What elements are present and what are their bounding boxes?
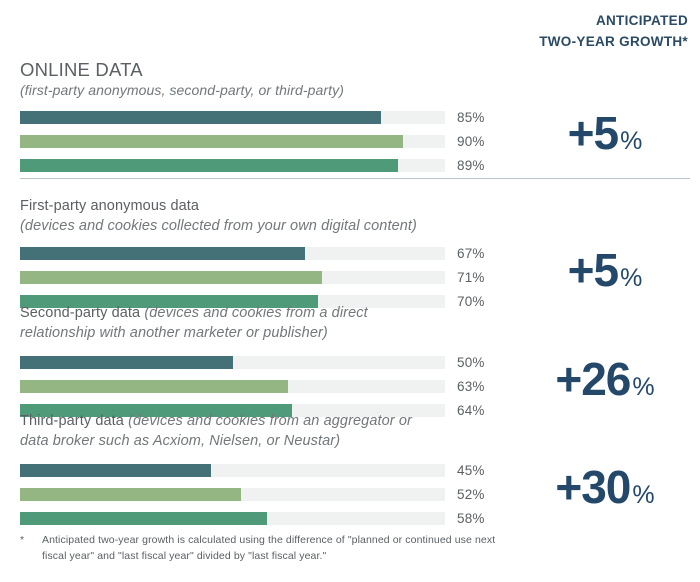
growth-number: +5 <box>568 110 618 156</box>
growth-figure: +5 % <box>568 110 643 156</box>
growth-percent-sign: % <box>620 266 642 291</box>
section-label-italic: (devices and cookies collected from your… <box>20 218 417 234</box>
growth-cell-online-data: +5 % <box>510 58 700 174</box>
growth-percent-sign: % <box>632 375 654 400</box>
bar-fill-series-3 <box>20 512 267 525</box>
bar-row: 45% <box>20 462 510 479</box>
bar-track <box>20 380 445 393</box>
bar-track <box>20 356 445 369</box>
growth-figure: +26 % <box>555 356 654 402</box>
bar-row: 63% <box>20 378 510 395</box>
bar-group-second-party: 50% 63% 64% <box>20 354 510 419</box>
section-subtitle-online-data: (first-party anonymous, second-party, or… <box>20 81 510 100</box>
section-online-data: ONLINE DATA (first-party anonymous, seco… <box>0 58 700 174</box>
growth-number: +30 <box>555 464 630 510</box>
bar-value-label: 58% <box>457 511 499 526</box>
growth-cell-third-party: +30 % <box>510 411 700 527</box>
section-label-main: Third-party data <box>20 413 128 429</box>
footnote: * Anticipated two-year growth is calcula… <box>20 532 520 564</box>
bar-value-label: 71% <box>457 270 499 285</box>
header-line-2: TWO-YEAR GROWTH* <box>428 31 688 52</box>
growth-percent-sign: % <box>620 129 642 154</box>
bar-value-label: 85% <box>457 110 499 125</box>
bar-value-label: 63% <box>457 379 499 394</box>
section-third-party: Third-party data (devices and cookies fr… <box>0 411 700 527</box>
bar-row: 71% <box>20 269 510 286</box>
section-first-party: First-party anonymous data (devices and … <box>0 196 700 310</box>
header-line-1: ANTICIPATED <box>428 10 688 31</box>
section-title-online-data: ONLINE DATA <box>20 58 510 81</box>
bar-fill-series-1 <box>20 464 211 477</box>
bar-value-label: 50% <box>457 355 499 370</box>
section-second-party: Second-party data (devices and cookies f… <box>0 303 700 419</box>
section-label-main: Second-party data <box>20 305 144 321</box>
bar-row: 85% <box>20 109 510 126</box>
bar-track <box>20 247 445 260</box>
growth-number: +5 <box>568 247 618 293</box>
bar-value-label: 67% <box>457 246 499 261</box>
bar-track <box>20 111 445 124</box>
chart-header: ANTICIPATED TWO-YEAR GROWTH* <box>428 10 688 52</box>
bar-value-label: 90% <box>457 134 499 149</box>
footnote-marker: * <box>20 532 24 548</box>
bar-group-third-party: 45% 52% 58% <box>20 462 510 527</box>
bar-fill-series-2 <box>20 380 288 393</box>
bar-value-label: 52% <box>457 487 499 502</box>
growth-cell-first-party: +5 % <box>510 196 700 310</box>
bar-track <box>20 488 445 501</box>
bar-row: 58% <box>20 510 510 527</box>
bar-fill-series-2 <box>20 135 403 148</box>
bar-value-label: 45% <box>457 463 499 478</box>
bar-track <box>20 135 445 148</box>
section-online-data-left: ONLINE DATA (first-party anonymous, seco… <box>0 58 510 174</box>
bar-track <box>20 464 445 477</box>
bar-row: 90% <box>20 133 510 150</box>
growth-cell-second-party: +26 % <box>510 303 700 419</box>
growth-percent-sign: % <box>632 483 654 508</box>
bar-track <box>20 159 445 172</box>
bar-track <box>20 512 445 525</box>
bar-fill-series-1 <box>20 111 381 124</box>
bar-track <box>20 271 445 284</box>
section-first-party-left: First-party anonymous data (devices and … <box>0 196 510 310</box>
section-third-party-left: Third-party data (devices and cookies fr… <box>0 411 510 527</box>
growth-figure: +30 % <box>555 464 654 510</box>
section-label-first-party: First-party anonymous data (devices and … <box>20 196 510 236</box>
bar-fill-series-1 <box>20 356 233 369</box>
bar-row: 67% <box>20 245 510 262</box>
section-label-second-party: Second-party data (devices and cookies f… <box>20 303 420 343</box>
section-second-party-left: Second-party data (devices and cookies f… <box>0 303 510 419</box>
section-label-main: First-party anonymous data <box>20 198 199 214</box>
section-label-third-party: Third-party data (devices and cookies fr… <box>20 411 420 451</box>
growth-figure: +5 % <box>568 247 643 293</box>
bar-group-first-party: 67% 71% 70% <box>20 245 510 310</box>
bar-group-online-data: 85% 90% 89% <box>20 109 510 174</box>
section-divider <box>20 178 690 179</box>
bar-row: 89% <box>20 157 510 174</box>
bar-row: 50% <box>20 354 510 371</box>
infographic-root: ANTICIPATED TWO-YEAR GROWTH* ONLINE DATA… <box>0 0 700 582</box>
bar-fill-series-2 <box>20 488 241 501</box>
footnote-text: Anticipated two-year growth is calculate… <box>20 532 520 564</box>
bar-fill-series-1 <box>20 247 305 260</box>
bar-row: 52% <box>20 486 510 503</box>
bar-value-label: 89% <box>457 158 499 173</box>
bar-fill-series-3 <box>20 159 398 172</box>
bar-fill-series-2 <box>20 271 322 284</box>
growth-number: +26 <box>555 356 630 402</box>
